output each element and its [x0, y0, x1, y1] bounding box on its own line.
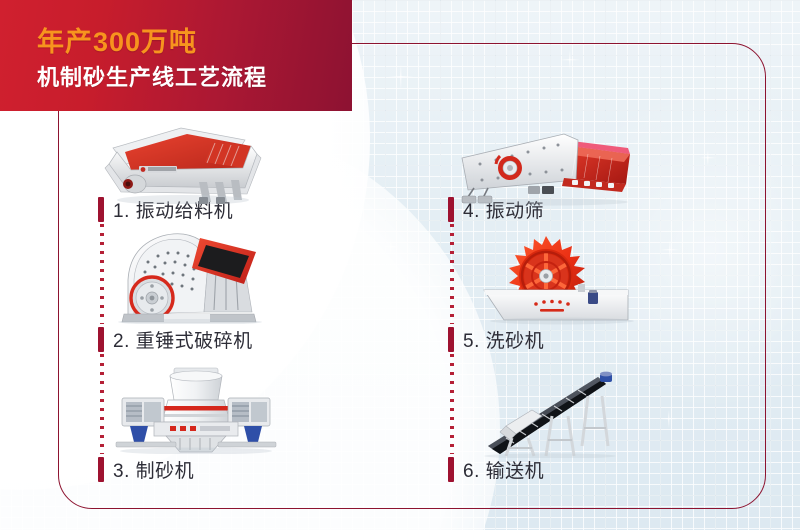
sand-washer-icon: [478, 232, 658, 328]
connector-dots-2: [100, 354, 104, 454]
label-marker-2: [98, 327, 104, 352]
process-step-2-text: 2. 重锤式破碎机: [113, 326, 253, 353]
vibrating-feeder-icon: [95, 112, 285, 204]
process-step-2: [104, 228, 304, 328]
process-step-4: [452, 112, 652, 212]
connector-dots-5: [450, 354, 454, 454]
banner-line-2: 机制砂生产线工艺流程: [37, 60, 267, 92]
label-marker-5: [448, 327, 454, 352]
process-step-3-text: 3. 制砂机: [113, 456, 194, 483]
process-step-5: [478, 232, 678, 330]
belt-conveyor-icon: [476, 368, 656, 458]
process-step-3-label: 3. 制砂机: [98, 456, 194, 483]
process-step-5-label: 5. 洗砂机: [448, 326, 544, 353]
process-step-1: [95, 112, 295, 212]
label-marker-6: [448, 457, 454, 482]
poster-canvas: 1. 振动给料机: [0, 0, 800, 530]
process-step-2-label: 2. 重锤式破碎机: [98, 326, 253, 353]
title-banner: 年产300万吨 机制砂生产线工艺流程: [0, 0, 352, 111]
hammer-crusher-icon: [104, 228, 284, 324]
process-step-6: [476, 368, 676, 460]
process-step-5-text: 5. 洗砂机: [463, 326, 544, 353]
process-step-3: [108, 362, 308, 457]
process-step-6-label: 6. 输送机: [448, 456, 544, 483]
process-step-6-text: 6. 输送机: [463, 456, 544, 483]
sand-making-machine-icon: [108, 362, 284, 454]
vibrating-screen-icon: [452, 112, 644, 206]
connector-dots-4: [450, 224, 454, 324]
label-marker-3: [98, 457, 104, 482]
banner-line-1: 年产300万吨: [37, 20, 197, 59]
